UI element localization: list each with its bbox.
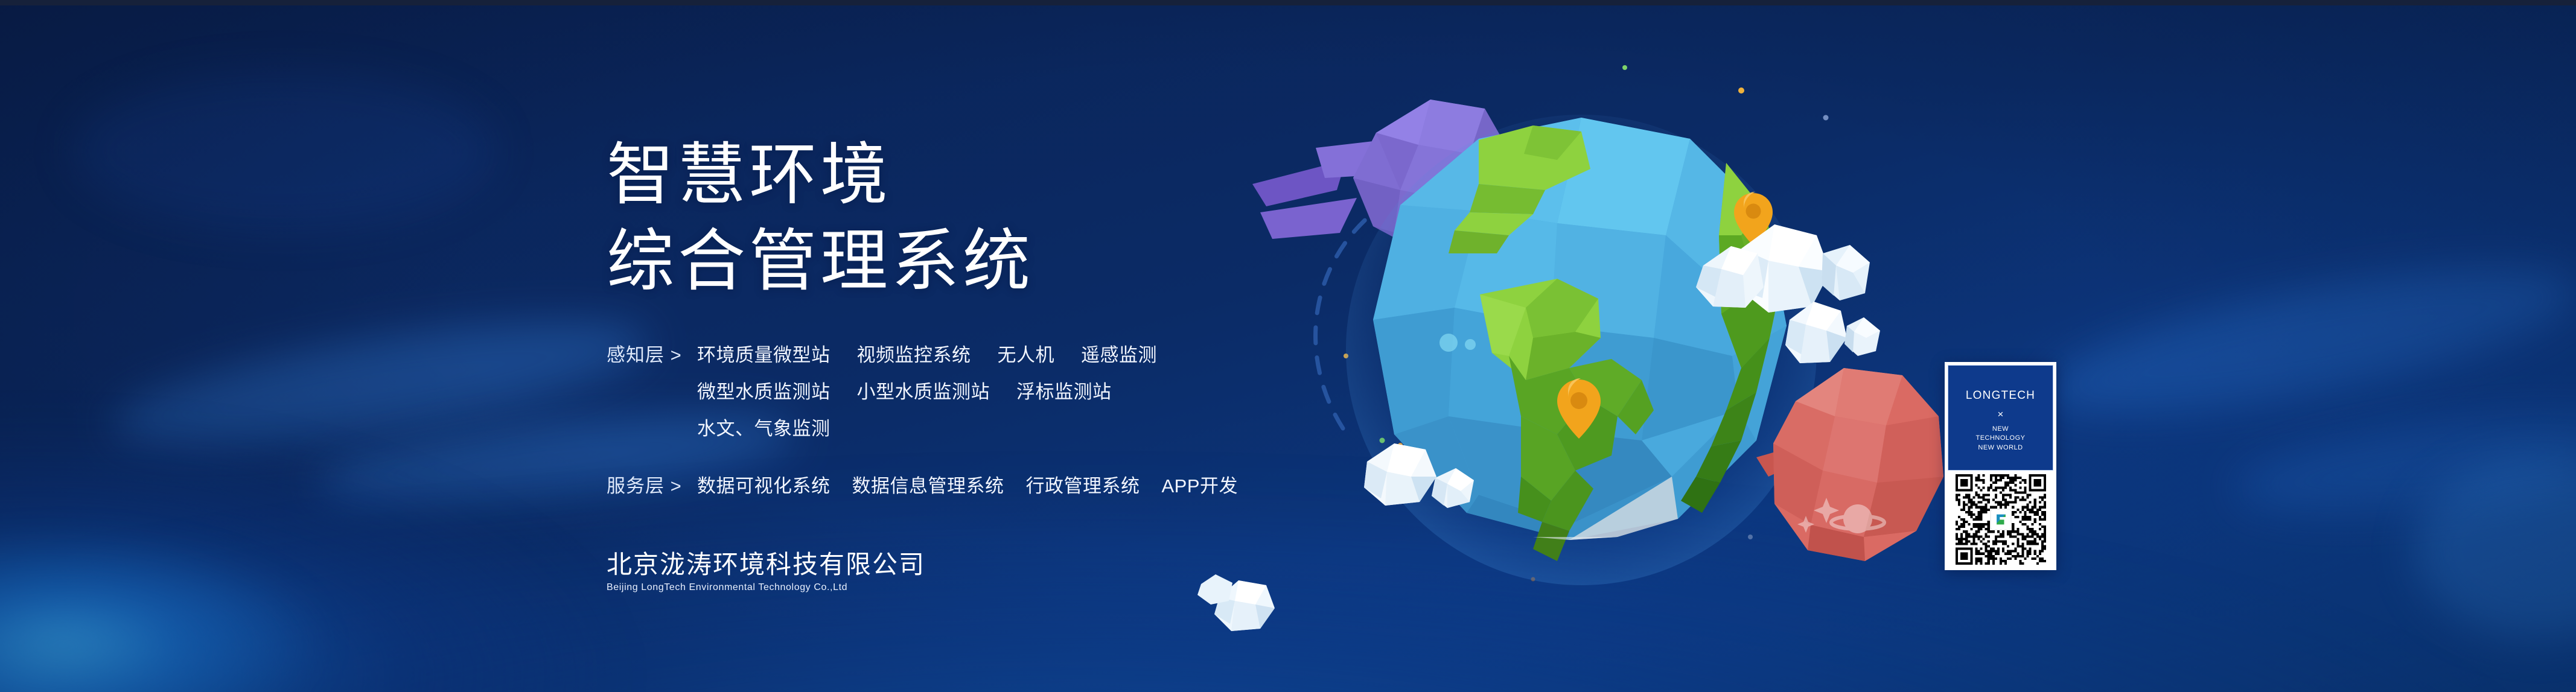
- qr-brand-label: LONGTECH: [1966, 389, 2035, 402]
- title-line-2: 综合管理系统: [607, 218, 1238, 304]
- layer-row-perception: 感知层 > 环境质量微型站 视频监控系统 无人机 遥感监测 微型水质监测站 小型…: [607, 340, 1238, 440]
- top-edge-bar: [0, 0, 2576, 5]
- cloud-icon: [1197, 574, 1275, 631]
- hero-text-block: 智慧环境 综合管理系统 感知层 > 环境质量微型站 视频监控系统 无人机 遥感监…: [607, 132, 1238, 524]
- layer-item-line: 数据可视化系统 数据信息管理系统 行政管理系统 APP开发: [697, 471, 1238, 498]
- title-line-1: 智慧环境: [607, 132, 1238, 218]
- layer-item[interactable]: 小型水质监测站: [857, 376, 990, 404]
- company-signature: 北京泷涛环境科技有限公司 Beijing LongTech Environmen…: [607, 550, 925, 593]
- company-name-cn: 北京泷涛环境科技有限公司: [607, 550, 925, 579]
- layer-list: 感知层 > 环境质量微型站 视频监控系统 无人机 遥感监测 微型水质监测站 小型…: [607, 340, 1238, 498]
- layer-item[interactable]: 行政管理系统: [1026, 471, 1140, 498]
- layer-item[interactable]: 环境质量微型站: [697, 340, 831, 367]
- longtech-logo-mark: [1995, 513, 2007, 525]
- layer-item[interactable]: 数据信息管理系统: [852, 471, 1004, 498]
- layer-label-perception[interactable]: 感知层 >: [607, 340, 697, 367]
- qr-code-image[interactable]: [1956, 474, 2046, 565]
- layer-item-line: 微型水质监测站 小型水质监测站 浮标监测站: [697, 376, 1157, 404]
- layer-row-service: 服务层 > 数据可视化系统 数据信息管理系统 行政管理系统 APP开发: [607, 471, 1238, 498]
- layer-label-service[interactable]: 服务层 >: [607, 471, 697, 498]
- qr-center-logo-icon: [1991, 510, 2010, 530]
- globe: [1346, 115, 1817, 585]
- layer-item[interactable]: 遥感监测: [1081, 340, 1157, 367]
- hero-banner: 智慧环境 综合管理系统 感知层 > 环境质量微型站 视频监控系统 无人机 遥感监…: [0, 0, 2576, 692]
- layer-item[interactable]: APP开发: [1162, 471, 1239, 498]
- qr-card-header: LONGTECH × NEW TECHNOLOGY NEW WORLD: [1948, 365, 2053, 471]
- company-name-en: Beijing LongTech Environmental Technolog…: [607, 582, 925, 593]
- qr-card[interactable]: LONGTECH × NEW TECHNOLOGY NEW WORLD: [1945, 362, 2056, 570]
- space-illustration: [1195, 54, 2070, 658]
- qr-tagline-line-1: NEW: [1975, 425, 2025, 434]
- qr-tagline-line-2: TECHNOLOGY: [1975, 434, 2025, 443]
- qr-tagline: NEW TECHNOLOGY NEW WORLD: [1975, 425, 2025, 453]
- layer-item[interactable]: 微型水质监测站: [697, 376, 831, 404]
- layer-item[interactable]: 水文、气象监测: [697, 413, 831, 440]
- layer-item-line: 水文、气象监测: [697, 413, 1157, 440]
- layer-item[interactable]: 浮标监测站: [1016, 376, 1112, 404]
- qr-separator-icon: ×: [1998, 409, 2004, 419]
- qr-tagline-line-3: NEW WORLD: [1975, 443, 2025, 453]
- layer-item[interactable]: 视频监控系统: [857, 340, 971, 367]
- layer-items-perception: 环境质量微型站 视频监控系统 无人机 遥感监测 微型水质监测站 小型水质监测站 …: [697, 340, 1157, 440]
- page-title: 智慧环境 综合管理系统: [607, 132, 1238, 305]
- layer-items-service: 数据可视化系统 数据信息管理系统 行政管理系统 APP开发: [697, 471, 1238, 498]
- layer-item-line: 环境质量微型站 视频监控系统 无人机 遥感监测: [697, 340, 1157, 367]
- layer-item[interactable]: 无人机: [998, 340, 1055, 367]
- layer-item[interactable]: 数据可视化系统: [697, 471, 831, 498]
